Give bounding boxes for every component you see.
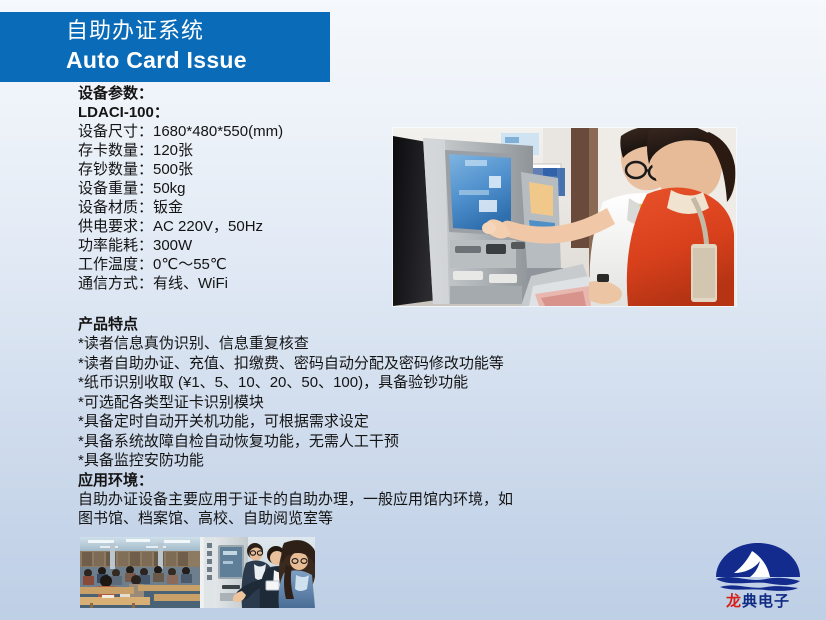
environment-paragraph-line: 图书馆、档案馆、高校、自助阅览室等 xyxy=(78,509,638,529)
logo-text-blue: 典电子 xyxy=(742,593,790,610)
feature-item: *读者自助办证、充值、扣缴费、密码自动分配及密码修改功能等 xyxy=(78,354,638,374)
feature-item: *可选配各类型证卡识别模块 xyxy=(78,393,638,413)
environment-paragraph-line: 自助办证设备主要应用于证卡的自助办理，一般应用馆内环境，如 xyxy=(78,490,638,510)
feature-item: *具备定时自动开关机功能，可根据需求设定 xyxy=(78,412,638,432)
environment-section: 应用环境： 自助办证设备主要应用于证卡的自助办理，一般应用馆内环境，如 图书馆、… xyxy=(78,471,638,529)
kiosk-demo-photo xyxy=(393,128,736,306)
feature-item: *纸币识别收取 (¥1、5、10、20、50、100)，具备验钞功能 xyxy=(78,373,638,393)
features-section: 产品特点 *读者信息真伪识别、信息重复核查 *读者自助办证、充值、扣缴费、密码自… xyxy=(78,315,638,471)
banner-title-cn: 自助办证系统 xyxy=(66,16,316,46)
library-reading-room-photo xyxy=(80,537,200,608)
feature-item: *具备系统故障自检自动恢复功能，无需人工干预 xyxy=(78,432,638,452)
specs-model: LDACI-100： xyxy=(78,103,638,122)
environment-heading: 应用环境： xyxy=(78,471,638,490)
header-banner: 自助办证系统 Auto Card Issue xyxy=(0,12,330,82)
features-heading: 产品特点 xyxy=(78,315,638,334)
specs-heading: 设备参数： xyxy=(78,84,638,103)
kiosk-users-photo xyxy=(200,537,315,608)
banner-title-en: Auto Card Issue xyxy=(66,46,316,74)
sail-dome-icon xyxy=(708,541,808,593)
logo-text-red: 龙 xyxy=(726,593,742,610)
logo-text: 龙典电子 xyxy=(708,594,808,610)
feature-item: *具备监控安防功能 xyxy=(78,451,638,471)
company-logo: 龙典电子 xyxy=(708,541,808,611)
feature-item: *读者信息真伪识别、信息重复核查 xyxy=(78,334,638,354)
